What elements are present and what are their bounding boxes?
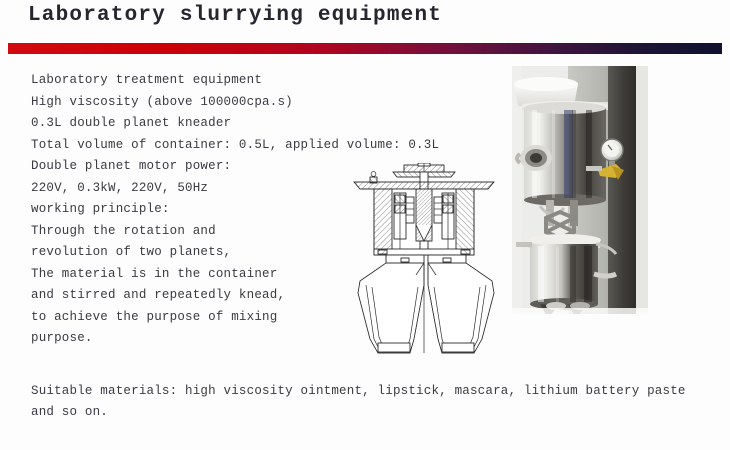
photo-right-margin <box>636 66 648 314</box>
spec-line: 220V, 0.3kW, 220V, 50Hz <box>31 178 351 200</box>
footer-line: and so on. <box>31 402 701 423</box>
spec-line: The material is in the container <box>31 264 351 286</box>
spec-line: and stirred and repeatedly knead, <box>31 285 351 307</box>
spec-line: Double planet motor power: <box>31 156 351 178</box>
spec-line: to achieve the purpose of mixing <box>31 307 351 329</box>
spec-line: working principle: <box>31 199 351 221</box>
kneader-blade-right <box>428 263 494 353</box>
spec-line: High viscosity (above 100000cpa.s) <box>31 92 351 114</box>
gradient-rule-divider <box>8 43 722 54</box>
gearbox-housing <box>374 189 474 255</box>
spec-line: Through the rotation and <box>31 221 351 243</box>
footer-text-block: Suitable materials: high viscosity ointm… <box>31 381 701 423</box>
spec-line: Total volume of container: 0.5L, applied… <box>31 135 351 157</box>
kneader-blade-left <box>358 263 424 353</box>
spec-line: Laboratory treatment equipment <box>31 70 351 92</box>
footer-line: Suitable materials: high viscosity ointm… <box>31 381 701 402</box>
specification-text-block: Laboratory treatment equipment High visc… <box>31 70 351 350</box>
spec-line: revolution of two planets, <box>31 242 351 264</box>
page-title: Laboratory slurrying equipment <box>28 4 442 27</box>
equipment-photo-svg <box>512 66 648 314</box>
spec-line: purpose. <box>31 328 351 350</box>
mixer-cross-section-svg <box>348 163 500 361</box>
technical-drawing <box>348 163 500 361</box>
slide-canvas: Laboratory slurrying equipment Laborator… <box>0 0 730 450</box>
product-photo <box>512 66 648 314</box>
spec-line: 0.3L double planet kneader <box>31 113 351 135</box>
